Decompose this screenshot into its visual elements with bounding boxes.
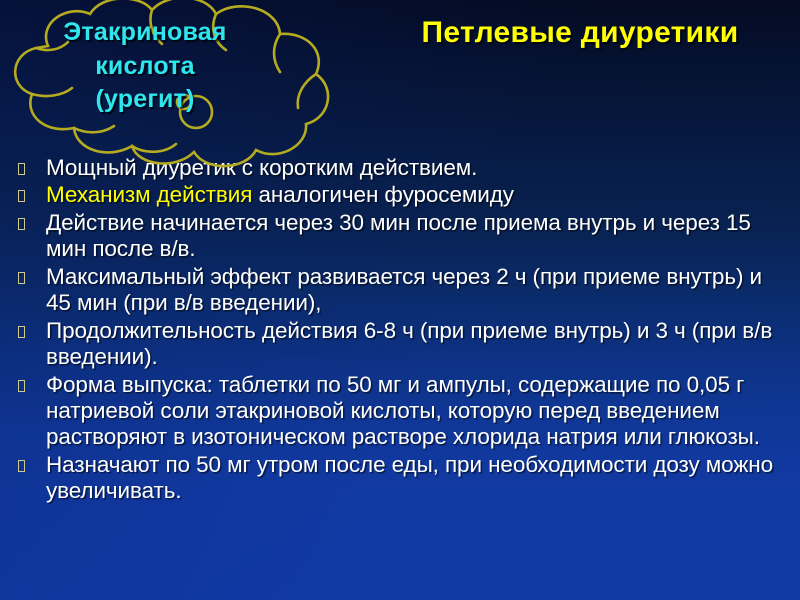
hollow-square-bullet-icon [18,372,46,397]
bullet-text: Действие начинается через 30 мин после п… [46,210,786,263]
thought-bubble-line-1: Этакриновая [30,16,260,50]
thought-bubble-line-3: (урегит) [30,83,260,117]
slide-title: Петлевые диуретики [370,16,790,50]
bullet-text: Максимальный эффект развивается через 2 … [46,264,786,317]
bullet-highlight: Механизм действия [46,182,252,207]
thought-bubble-text: Этакриновая кислота (урегит) [30,16,260,117]
bullet-item: Форма выпуска: таблетки по 50 мг и ампул… [18,372,786,451]
hollow-square-bullet-icon [18,182,46,207]
thought-bubble: Этакриновая кислота (урегит) [0,0,360,164]
presentation-slide: Этакриновая кислота (урегит) Петлевые ди… [0,0,800,600]
bullet-rest: аналогичен фуросемиду [252,182,514,207]
bullet-item: Назначают по 50 мг утром после еды, при … [18,452,786,505]
hollow-square-bullet-icon [18,318,46,343]
hollow-square-bullet-icon [18,452,46,477]
bullet-text: Продолжительность действия 6-8 ч (при пр… [46,318,786,371]
bullet-item: Механизм действия аналогичен фуросемиду [18,182,786,208]
hollow-square-bullet-icon [18,210,46,235]
hollow-square-bullet-icon [18,264,46,289]
bullet-item: Максимальный эффект развивается через 2 … [18,264,786,317]
thought-bubble-line-2: кислота [30,50,260,84]
bullet-text: Механизм действия аналогичен фуросемиду [46,182,786,208]
bullet-item: Действие начинается через 30 мин после п… [18,210,786,263]
bullet-item: Продолжительность действия 6-8 ч (при пр… [18,318,786,371]
bullet-list: Мощный диуретик с коротким действием. Ме… [18,155,786,506]
bullet-text: Форма выпуска: таблетки по 50 мг и ампул… [46,372,786,451]
bullet-text: Назначают по 50 мг утром после еды, при … [46,452,786,505]
